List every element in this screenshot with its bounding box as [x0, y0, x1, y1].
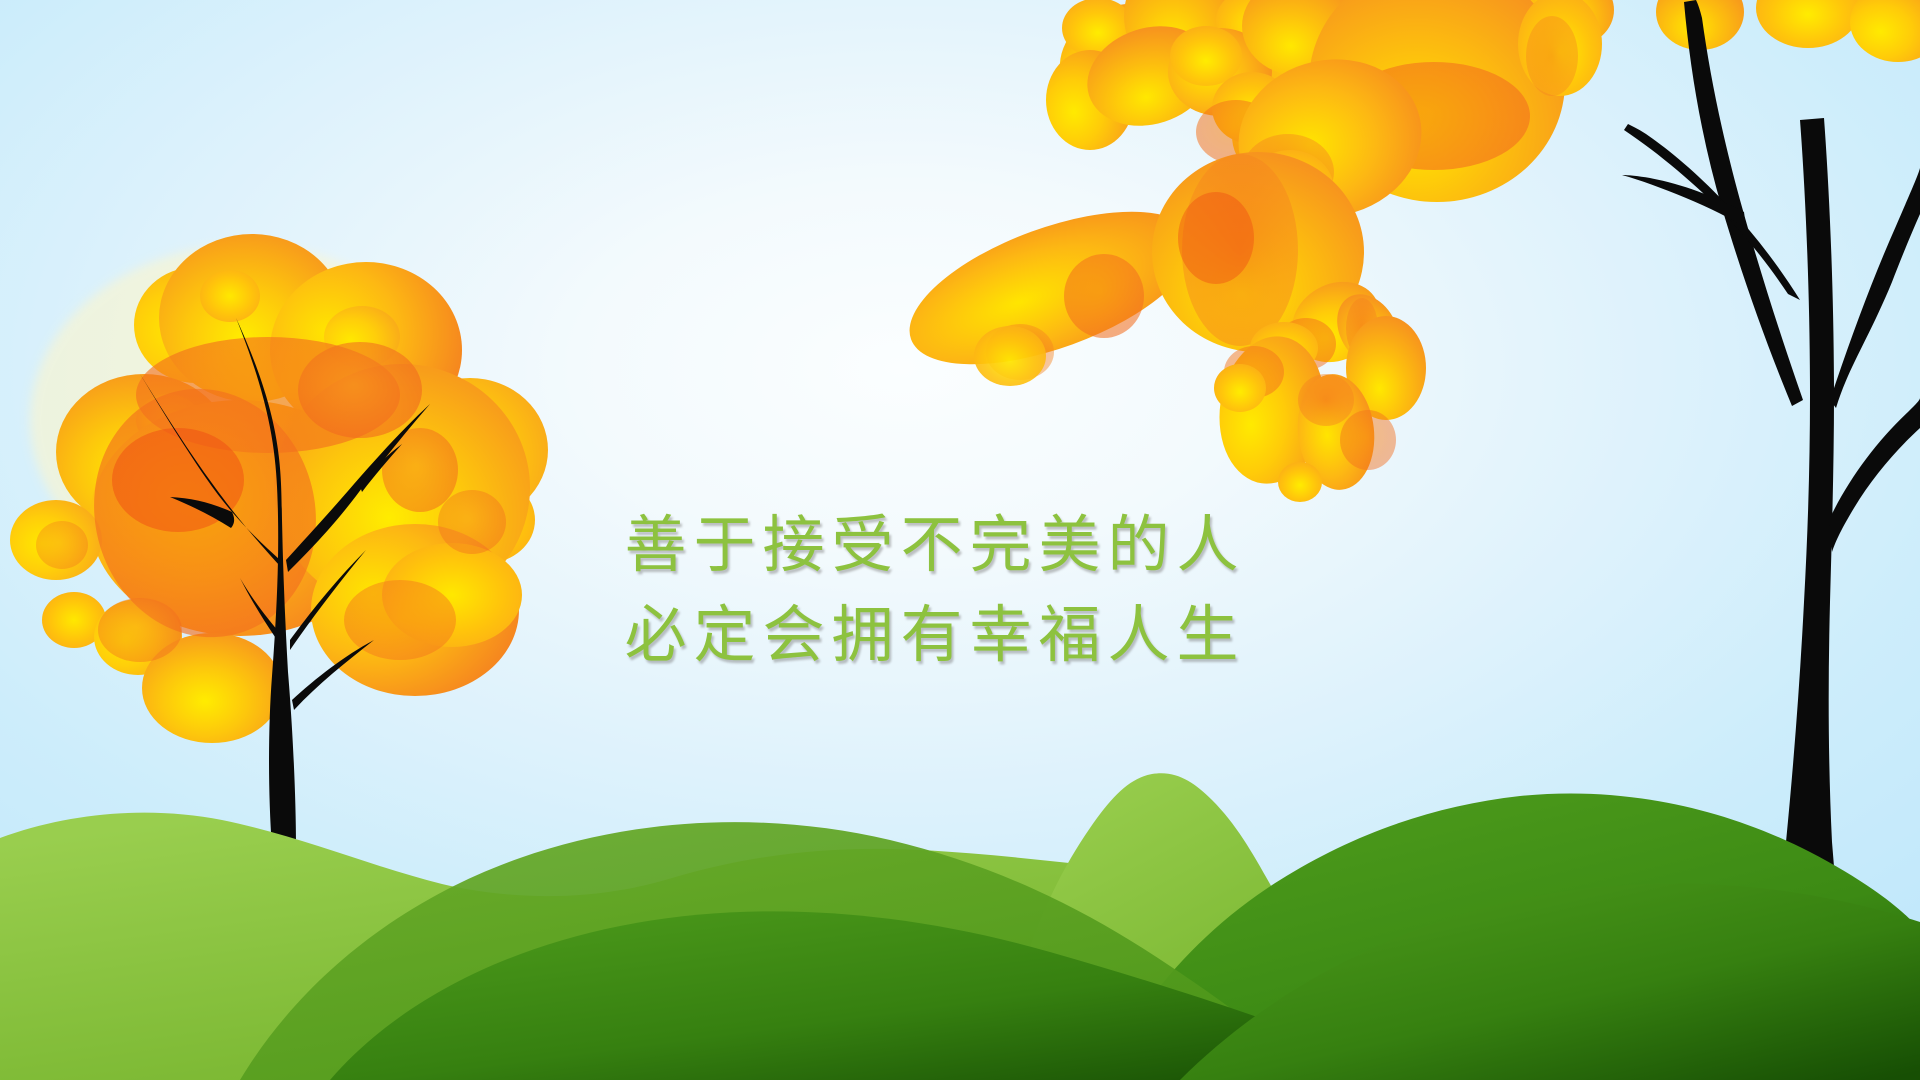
- hills-layer: [0, 0, 1920, 1080]
- wallpaper-scene: 善于接受不完美的人 必定会拥有幸福人生: [0, 0, 1920, 1080]
